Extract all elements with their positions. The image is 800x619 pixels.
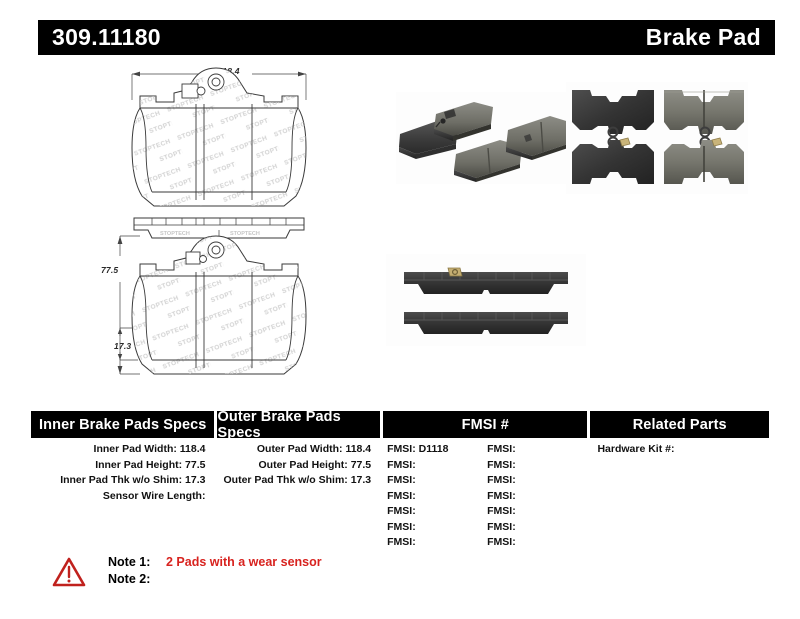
specs-table-body-row: Inner Pad Width: 118.4 Inner Pad Height:… — [31, 442, 769, 551]
related-parts-cell: Hardware Kit #: — [590, 442, 769, 551]
note-2-row: Note 2: — [108, 571, 322, 588]
pad-edge-view-top: STOPTECH STOPTECH — [134, 218, 304, 238]
note-1-value: 2 Pads with a wear sensor — [166, 554, 322, 571]
spec-value: 118.4 — [345, 443, 371, 455]
svg-text:STOPTECH: STOPTECH — [160, 231, 190, 237]
photo-pads-edge-profile — [386, 254, 586, 346]
fmsi-entry: FMSI: — [387, 489, 487, 505]
page-title: Brake Pad — [646, 26, 761, 49]
specs-table-header-row: Inner Brake Pads Specs Outer Brake Pads … — [31, 411, 769, 438]
warning-triangle-icon — [52, 556, 86, 588]
note-1-label: Note 1: — [108, 554, 158, 571]
note-1-row: Note 1: 2 Pads with a wear sensor — [108, 554, 322, 571]
column-header-related-parts: Related Parts — [590, 411, 769, 438]
spec-value: 77.5 — [351, 459, 371, 471]
spec-value: 17.3 — [351, 474, 371, 486]
spec-value: 118.4 — [180, 443, 206, 455]
spec-label: Outer Pad Thk w/o Shim: — [224, 474, 348, 486]
spec-label: Sensor Wire Length: — [103, 490, 206, 502]
notes-section: Note 1: 2 Pads with a wear sensor Note 2… — [52, 554, 322, 588]
brake-pad-outline-drawing: STOPTECH STOPTECH — [100, 60, 375, 380]
related-part-entry: Hardware Kit #: — [590, 442, 769, 458]
spec-label: Inner Pad Width: — [94, 443, 177, 455]
spec-label: Outer Pad Height: — [259, 459, 348, 471]
title-bar: 309.11180 Brake Pad — [38, 20, 775, 55]
fmsi-entry: FMSI: — [387, 458, 487, 474]
technical-drawing: 118.4 77.5 17.3 STOPTECH STOPTECH — [100, 60, 375, 380]
photo-pads-angled-set — [396, 92, 582, 184]
spec-label: Inner Pad Thk w/o Shim: — [60, 474, 182, 486]
spec-row: Outer Pad Height: 77.5 — [217, 458, 380, 474]
spec-value: 77.5 — [185, 459, 205, 471]
fmsi-entry: FMSI: — [487, 473, 587, 489]
svg-text:STOPTECH: STOPTECH — [230, 231, 260, 237]
fmsi-entry: FMSI: — [487, 504, 587, 520]
fmsi-entry: FMSI: — [387, 520, 487, 536]
spec-value: 17.3 — [185, 474, 205, 486]
spec-label: Inner Pad Height: — [95, 459, 182, 471]
spec-row: Outer Pad Width: 118.4 — [217, 442, 380, 458]
spec-row: Inner Pad Thk w/o Shim: 17.3 — [31, 473, 214, 489]
fmsi-entry: FMSI: — [487, 458, 587, 474]
outer-specs-cell: Outer Pad Width: 118.4 Outer Pad Height:… — [217, 442, 380, 551]
spec-row: Sensor Wire Length: — [31, 489, 214, 505]
spec-label: Outer Pad Width: — [257, 443, 343, 455]
specs-table: Inner Brake Pads Specs Outer Brake Pads … — [31, 411, 769, 551]
spec-row: Inner Pad Width: 118.4 — [31, 442, 214, 458]
fmsi-column-left: FMSI: D1118 FMSI: FMSI: FMSI: FMSI: FMSI… — [387, 442, 487, 551]
spec-row: Outer Pad Thk w/o Shim: 17.3 — [217, 473, 380, 489]
spec-row: Inner Pad Height: 77.5 — [31, 458, 214, 474]
pad-face-view-top — [130, 66, 310, 210]
fmsi-cell: FMSI: D1118 FMSI: FMSI: FMSI: FMSI: FMSI… — [383, 442, 587, 551]
fmsi-entry: FMSI: — [387, 473, 487, 489]
column-header-fmsi: FMSI # — [383, 411, 587, 438]
inner-specs-cell: Inner Pad Width: 118.4 Inner Pad Height:… — [31, 442, 214, 551]
column-header-outer-specs: Outer Brake Pads Specs — [217, 411, 380, 438]
fmsi-entry: FMSI: — [487, 535, 587, 551]
fmsi-entry: FMSI: D1118 — [387, 442, 487, 458]
fmsi-entry: FMSI: — [487, 442, 587, 458]
fmsi-entry: FMSI: — [387, 504, 487, 520]
column-header-inner-specs: Inner Brake Pads Specs — [31, 411, 214, 438]
fmsi-column-right: FMSI: FMSI: FMSI: FMSI: FMSI: FMSI: FMSI… — [487, 442, 587, 551]
photo-pads-front-back-grid — [566, 82, 748, 194]
fmsi-entry: FMSI: — [387, 535, 487, 551]
fmsi-entry: FMSI: — [487, 489, 587, 505]
pad-face-view-bottom — [130, 234, 310, 378]
fmsi-entry: FMSI: — [487, 520, 587, 536]
note-2-label: Note 2: — [108, 571, 158, 588]
part-number: 309.11180 — [52, 26, 161, 49]
